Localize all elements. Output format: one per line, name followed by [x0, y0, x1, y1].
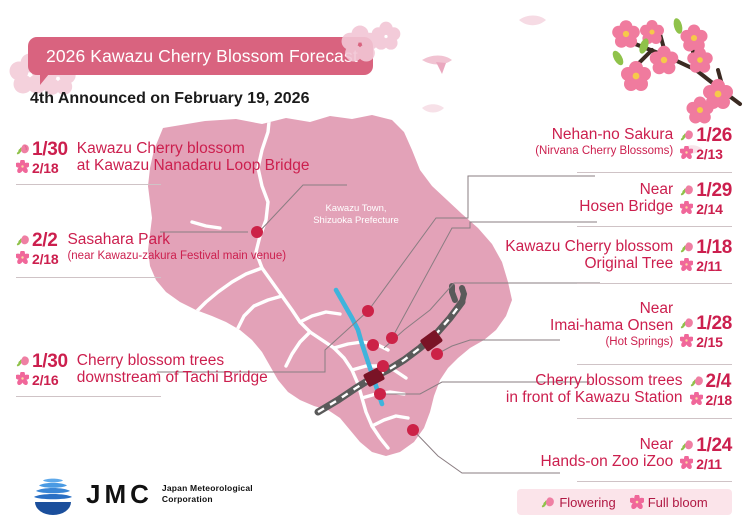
flowering-date-row: 2/4 [690, 372, 732, 391]
flowering-date: 2/4 [706, 372, 732, 391]
bud-icon [690, 374, 705, 389]
jmc-abbr: JMC [86, 479, 153, 510]
full-bloom-date: 2/13 [696, 147, 722, 161]
bud-icon [541, 495, 556, 510]
location-name: Sasahara Park (near Kawazu-zakura Festiv… [67, 231, 286, 265]
callout-right-0[interactable]: Nehan-no Sakura (Nirvana Cherry Blossoms… [535, 126, 732, 161]
legend-label-full-bloom: Full bloom [648, 495, 708, 510]
location-name-line1: Near [550, 300, 673, 317]
date-pair: 2/4 [690, 372, 732, 407]
date-pair: 1/26 [680, 126, 732, 161]
map-area-label-line1: Kawazu Town, [296, 203, 416, 215]
flowering-date-row: 1/28 [680, 314, 732, 333]
flowering-date: 1/24 [696, 436, 732, 455]
callout-divider [16, 184, 161, 185]
sakura-icon [16, 251, 31, 266]
flowering-date: 1/26 [696, 126, 732, 145]
location-name-sub: (near Kawazu-zakura Festival main venue) [67, 248, 286, 265]
location-name-line1: Kawazu Cherry blossom [505, 238, 673, 255]
flowering-date-row: 1/24 [680, 436, 732, 455]
callout-divider [577, 283, 732, 284]
legend: Flowering Full bloom [517, 489, 732, 515]
infographic-root: Kawazu Town, Shizuoka Prefecture [0, 0, 750, 530]
flowering-date: 1/30 [32, 352, 68, 371]
callout-divider [577, 481, 732, 482]
flowering-date: 1/18 [696, 238, 732, 257]
location-name: Cherry blossom trees in front of Kawazu … [506, 372, 683, 406]
banner-title: 2026 Kawazu Cherry Blossom Forecast [46, 46, 358, 67]
sakura-icon [680, 334, 695, 349]
bud-icon [16, 142, 31, 157]
date-pair: 2/2 [16, 231, 58, 266]
full-bloom-date: 2/11 [696, 457, 722, 471]
location-name: Near Imai-hama Onsen (Hot Springs) [550, 300, 673, 351]
callout-divider [16, 277, 161, 278]
location-name-line2: Original Tree [505, 255, 673, 272]
sakura-icon [690, 392, 705, 407]
callout-left-0[interactable]: 1/30 [16, 140, 309, 175]
location-name-line1: Near [541, 436, 674, 453]
location-name-line2: in front of Kawazu Station [506, 389, 683, 406]
date-pair: 1/24 [680, 436, 732, 471]
bud-icon [680, 240, 695, 255]
full-bloom-date-row: 2/14 [680, 201, 732, 216]
full-bloom-date-row: 2/13 [680, 146, 732, 161]
bud-icon [680, 183, 695, 198]
callout-divider [577, 172, 732, 173]
sakura-icon [680, 456, 695, 471]
callout-divider [577, 418, 732, 419]
callout-left-1[interactable]: 2/2 [16, 231, 286, 266]
flowering-date: 1/29 [696, 181, 732, 200]
callout-right-3[interactable]: Near Imai-hama Onsen (Hot Springs) 1/28 [550, 300, 732, 351]
bud-icon [16, 354, 31, 369]
bud-icon [680, 438, 695, 453]
title-banner: 2026 Kawazu Cherry Blossom Forecast [28, 37, 373, 75]
map-area-label: Kawazu Town, Shizuoka Prefecture [296, 203, 416, 227]
callout-right-5[interactable]: Near Hands-on Zoo iZoo 1/24 [541, 436, 732, 471]
full-bloom-date: 2/18 [32, 161, 58, 175]
location-name-line1: Cherry blossom trees [77, 352, 268, 369]
full-bloom-date-row: 2/16 [16, 372, 68, 387]
banner-tail [40, 74, 49, 85]
flowering-date: 2/2 [32, 231, 58, 250]
bud-icon [680, 316, 695, 331]
sakura-icon [680, 201, 695, 216]
location-name-sub: (Nirvana Cherry Blossoms) [535, 143, 673, 160]
date-pair: 1/29 [680, 181, 732, 216]
location-name-line1: Sasahara Park [67, 231, 286, 248]
full-bloom-date-row: 2/18 [16, 160, 68, 175]
location-name-line2: Imai-hama Onsen [550, 317, 673, 334]
location-name: Kawazu Cherry blossom Original Tree [505, 238, 673, 272]
date-pair: 1/30 [16, 140, 68, 175]
location-name-line1: Kawazu Cherry blossom [77, 140, 310, 157]
jmc-logo[interactable]: JMC Japan Meteorological Corporation [30, 472, 253, 516]
bud-icon [16, 233, 31, 248]
flowering-date-row: 1/29 [680, 181, 732, 200]
sakura-icon [16, 372, 31, 387]
location-name-line1: Near [579, 181, 673, 198]
location-name-sub: (Hot Springs) [550, 334, 673, 351]
callout-divider [577, 364, 732, 365]
callout-right-2[interactable]: Kawazu Cherry blossom Original Tree 1/18 [505, 238, 732, 273]
date-pair: 1/30 [16, 352, 68, 387]
flowering-date-row: 1/30 [16, 140, 68, 159]
location-name-line2: Hosen Bridge [579, 198, 673, 215]
map-area-label-line2: Shizuoka Prefecture [296, 215, 416, 227]
bud-icon [680, 128, 695, 143]
flowering-date: 1/28 [696, 314, 732, 333]
full-bloom-date: 2/14 [696, 202, 722, 216]
full-bloom-date: 2/18 [32, 252, 58, 266]
flowering-date-row: 1/18 [680, 238, 732, 257]
callout-divider [16, 396, 161, 397]
sakura-icon [680, 146, 695, 161]
callout-divider [577, 226, 732, 227]
location-name: Kawazu Cherry blossom at Kawazu Nanadaru… [77, 140, 310, 174]
callout-left-2[interactable]: 1/30 [16, 352, 268, 387]
callout-right-4[interactable]: Cherry blossom trees in front of Kawazu … [506, 372, 732, 407]
callout-right-1[interactable]: Near Hosen Bridge 1/29 [579, 181, 732, 216]
legend-item-full-bloom: Full bloom [630, 495, 708, 510]
full-bloom-date: 2/15 [696, 335, 722, 349]
full-bloom-date: 2/18 [706, 393, 732, 407]
legend-item-flowering: Flowering [541, 495, 615, 510]
sakura-icon [630, 495, 645, 510]
location-name-line1: Nehan-no Sakura [535, 126, 673, 143]
full-bloom-date: 2/16 [32, 373, 58, 387]
announcement-subtitle: 4th Announced on February 19, 2026 [30, 90, 309, 108]
location-name: Near Hosen Bridge [579, 181, 673, 215]
sakura-icon [680, 258, 695, 273]
jmc-fullname-line1: Japan Meteorological [162, 483, 253, 494]
full-bloom-date-row: 2/11 [680, 258, 732, 273]
legend-label-flowering: Flowering [559, 495, 615, 510]
location-name: Near Hands-on Zoo iZoo [541, 436, 674, 470]
sakura-icon [16, 160, 31, 175]
location-name-line2: Hands-on Zoo iZoo [541, 453, 674, 470]
full-bloom-date-row: 2/18 [690, 392, 732, 407]
full-bloom-date-row: 2/18 [16, 251, 58, 266]
location-name-line1: Cherry blossom trees [506, 372, 683, 389]
date-pair: 1/28 [680, 314, 732, 349]
jmc-fullname: Japan Meteorological Corporation [162, 483, 253, 505]
flowering-date-row: 1/26 [680, 126, 732, 145]
jmc-fullname-line2: Corporation [162, 494, 253, 505]
full-bloom-date-row: 2/15 [680, 334, 732, 349]
location-name: Cherry blossom trees downstream of Tachi… [77, 352, 268, 386]
flowering-date-row: 1/30 [16, 352, 68, 371]
jmc-globe-icon [30, 472, 76, 516]
flowering-date-row: 2/2 [16, 231, 58, 250]
location-name-line2: downstream of Tachi Bridge [77, 369, 268, 386]
location-name-line2: at Kawazu Nanadaru Loop Bridge [77, 157, 310, 174]
full-bloom-date: 2/11 [696, 259, 722, 273]
full-bloom-date-row: 2/11 [680, 456, 732, 471]
location-name: Nehan-no Sakura (Nirvana Cherry Blossoms… [535, 126, 673, 160]
date-pair: 1/18 [680, 238, 732, 273]
flowering-date: 1/30 [32, 140, 68, 159]
